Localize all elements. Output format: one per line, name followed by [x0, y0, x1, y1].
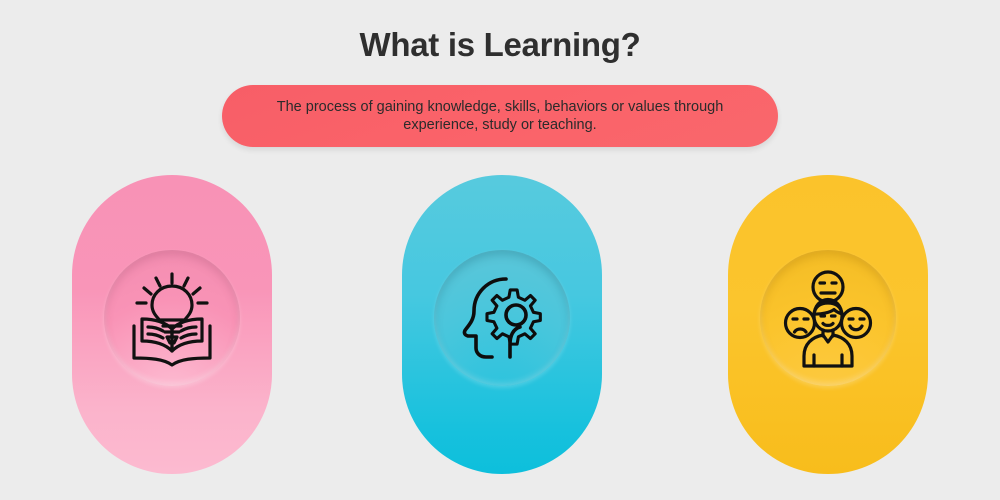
icon-well-behaviors — [760, 250, 896, 386]
icon-well-knowledge — [104, 250, 240, 386]
definition-text: The process of gaining knowledge, skills… — [222, 98, 778, 134]
card-skills[interactable]: Skills — [402, 175, 602, 474]
lightbulb-open-book-icon — [120, 266, 224, 370]
infographic-page: What is Learning? The process of gaining… — [0, 0, 1000, 500]
page-title: What is Learning? — [0, 26, 1000, 64]
card-behaviors[interactable]: Behaviors or values — [728, 175, 928, 474]
head-profile-gear-icon — [450, 266, 554, 370]
icon-well-skills — [434, 250, 570, 386]
definition-banner: The process of gaining knowledge, skills… — [222, 85, 778, 147]
card-knowledge[interactable]: Knowledge — [72, 175, 272, 474]
people-emotion-faces-icon — [776, 266, 880, 370]
